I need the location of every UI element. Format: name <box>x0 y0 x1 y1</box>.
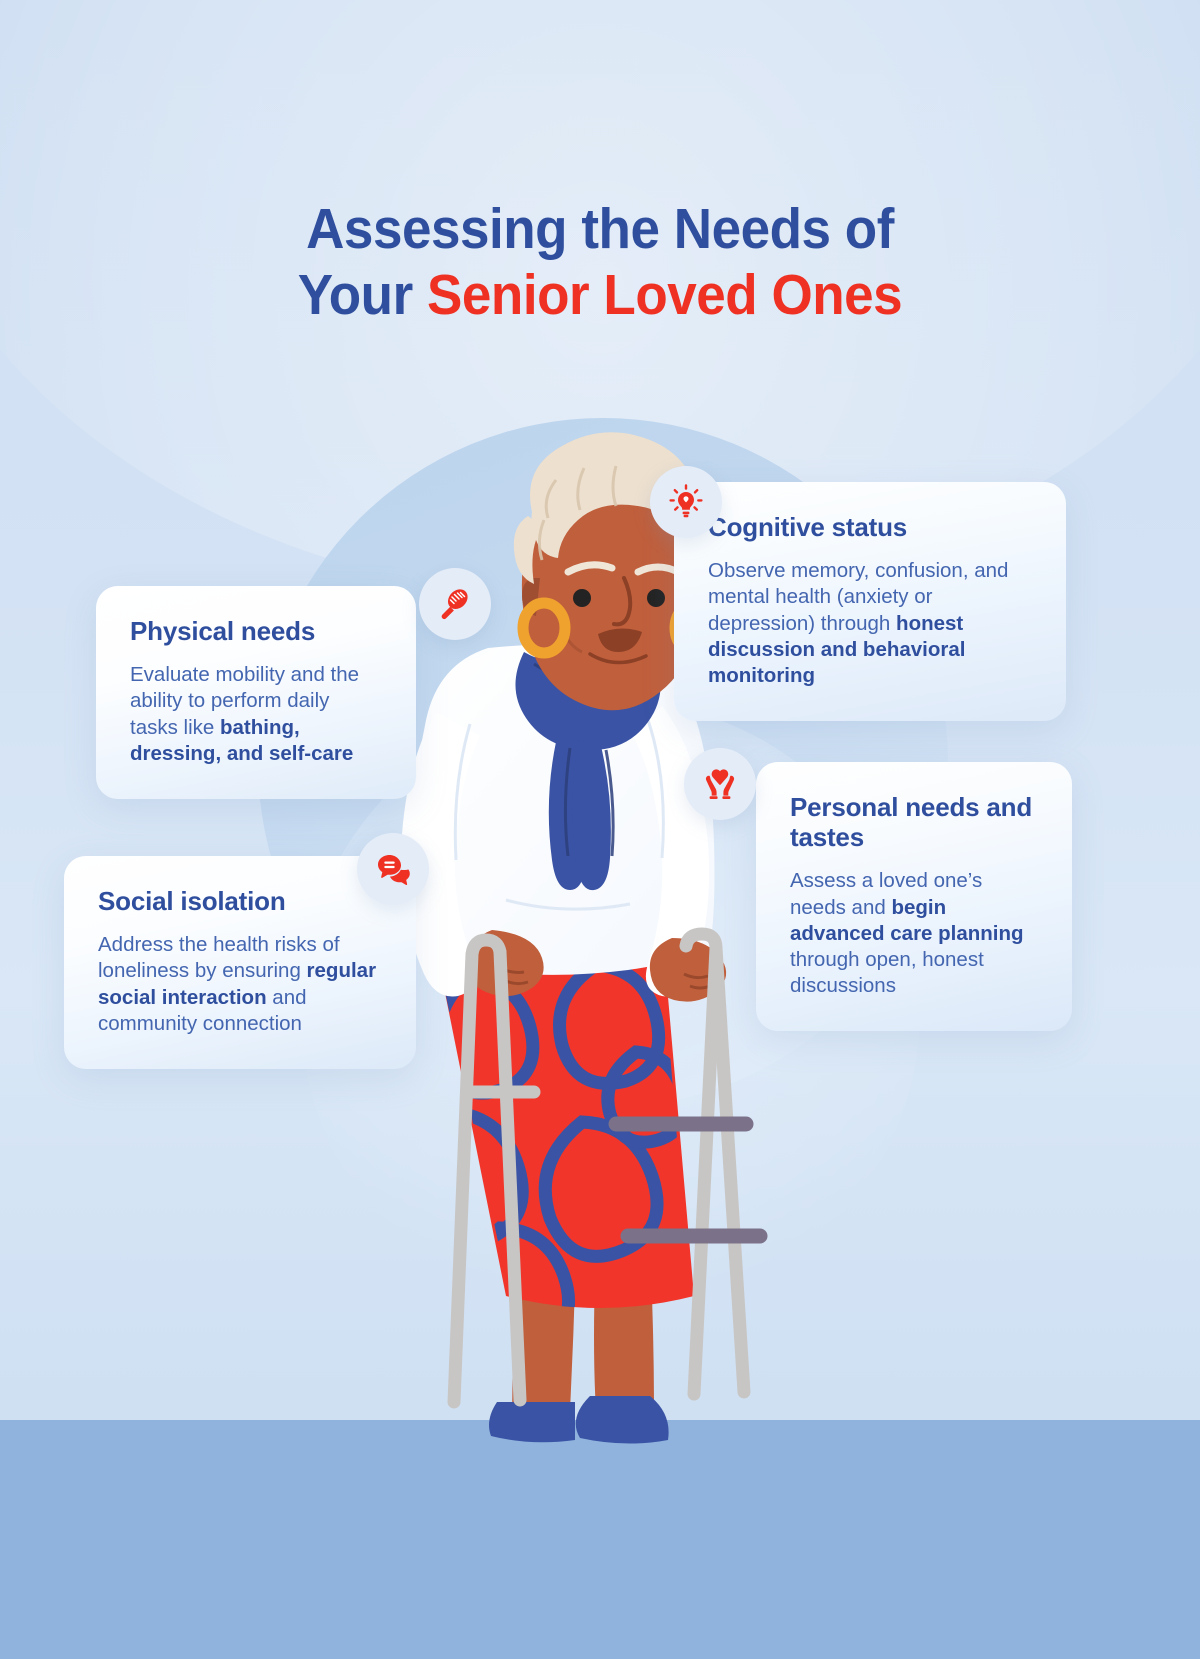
card-physical-needs: Physical needs Evaluate mobility and the… <box>96 586 416 799</box>
infographic-poster: Assessing the Needs of Your Senior Loved… <box>0 0 1200 1659</box>
heart-in-hands-icon <box>699 763 741 805</box>
card-physical-heading: Physical needs <box>130 616 382 646</box>
lightbulb-icon <box>666 482 706 522</box>
title-line-1: Assessing the Needs of <box>42 196 1158 262</box>
card-cognitive-status: Cognitive status Observe memory, confusi… <box>674 482 1066 721</box>
heart-in-hands-icon-badge <box>684 748 756 820</box>
card-personal-body: Assess a loved one’s needs and begin adv… <box>790 868 1038 999</box>
title-accent: Senior Loved Ones <box>427 263 902 327</box>
lightbulb-icon-badge <box>650 466 722 538</box>
card-personal-needs: Personal needs and tastes Assess a loved… <box>756 762 1072 1031</box>
card-social-body: Address the health risks of loneliness b… <box>98 932 382 1037</box>
title-prefix: Your <box>298 263 427 327</box>
title-line-2: Your Senior Loved Ones <box>42 262 1158 328</box>
card-social-heading: Social isolation <box>98 886 382 916</box>
chat-bubbles-icon-badge <box>357 833 429 905</box>
chat-bubbles-icon <box>373 849 413 889</box>
card-physical-body: Evaluate mobility and the ability to per… <box>130 662 382 767</box>
card-personal-heading: Personal needs and tastes <box>790 792 1038 852</box>
hairbrush-icon <box>435 584 475 624</box>
card-cognitive-heading: Cognitive status <box>708 512 1032 542</box>
page-title: Assessing the Needs of Your Senior Loved… <box>42 196 1158 328</box>
card-cognitive-body: Observe memory, confusion, and mental he… <box>708 558 1032 689</box>
hairbrush-icon-badge <box>419 568 491 640</box>
